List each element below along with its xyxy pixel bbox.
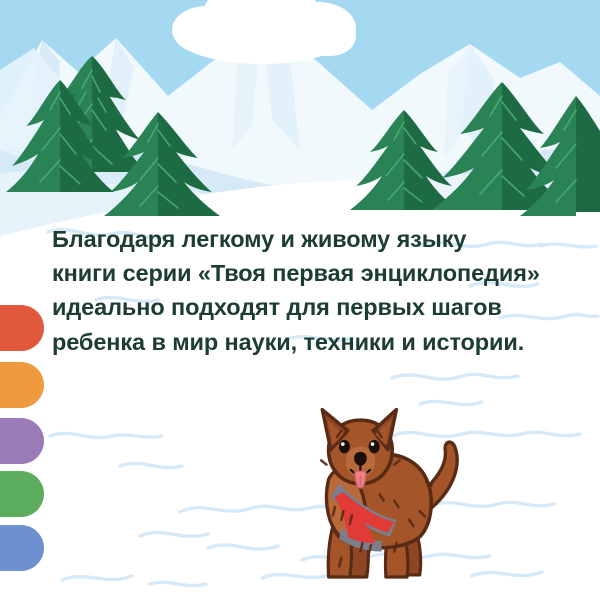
color-tab-strip [0,0,48,600]
sidebar-tab-red[interactable] [0,305,44,351]
dog-eye-right [369,440,380,454]
sidebar-tab-orange[interactable] [0,362,44,408]
sidebar-tab-purple[interactable] [0,418,44,464]
cloud-icon [172,0,356,64]
dog-eye-left [339,440,350,454]
sidebar-tab-green[interactable] [0,471,44,517]
headline-text: Благодаря легкому и живому языку книги с… [52,222,568,359]
sidebar-tab-blue[interactable] [0,525,44,571]
slide-canvas: Благодаря легкому и живому языку книги с… [0,0,600,600]
